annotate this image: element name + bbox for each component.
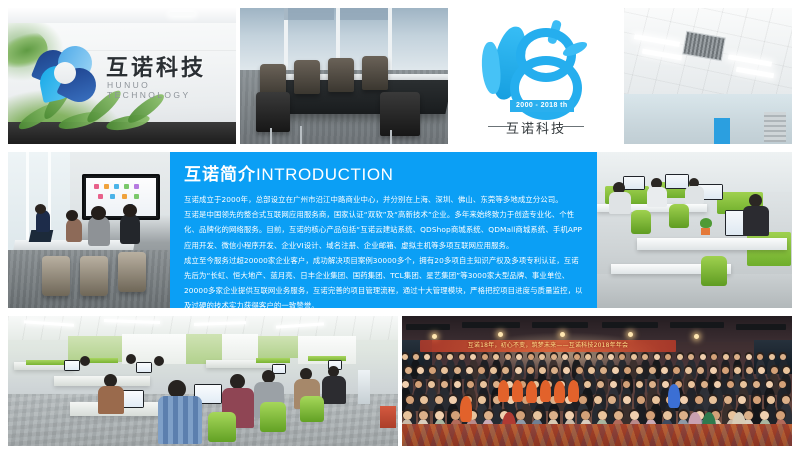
group-crowd	[402, 354, 792, 428]
ballroom-carpet	[402, 424, 792, 446]
top-photo-row: 互诺科技 HUNUO TECHNOLOGY	[8, 8, 792, 144]
logo-wordmark-cn: 互诺科技	[106, 50, 206, 82]
photo-boardroom	[240, 8, 448, 144]
logo-wordmark-en: HUNUO TECHNOLOGY	[107, 80, 236, 100]
red-bag	[380, 406, 396, 428]
intro-body: 互诺成立于2000年，总部设立在广州市沿江中路商业中心，并分别在上海、深圳、佛山…	[184, 192, 586, 314]
company-profile-collage: 互诺科技 HUNUO TECHNOLOGY	[0, 0, 800, 454]
intro-paragraph-1: 互诺成立于2000年，总部设立在广州市沿江中路商业中心，并分别在上海、深圳、佛山…	[184, 192, 586, 207]
photo-lobby-logo-wall: 互诺科技 HUNUO TECHNOLOGY	[8, 8, 236, 144]
photo-open-desks	[597, 152, 792, 308]
ceiling-strip	[8, 8, 236, 23]
anniversary-18-icon	[476, 16, 596, 108]
bottom-photo-row: 互诺18年，初心不变，筑梦未来——互诺科技2018年年会	[8, 316, 792, 446]
intro-heading-en: INTRODUCTION	[256, 165, 394, 184]
wall-display	[714, 118, 730, 144]
party-banner: 互诺18年，初心不变，筑梦未来——互诺科技2018年年会	[420, 340, 676, 352]
floor	[597, 274, 792, 308]
intro-paragraph-2: 互诺是中国领先的整合式互联网应用服务商，国家认证“双软”及“高新技术”企业。多年…	[184, 207, 586, 253]
anniversary-logo-card: 2000 - 2018 th 互诺科技	[452, 8, 620, 144]
anniversary-year-badge: 2000 - 2018 th	[510, 100, 574, 112]
intro-heading: 互诺简介INTRODUCTION	[184, 160, 394, 185]
party-banner-text: 互诺18年，初心不变，筑梦未来——互诺科技2018年年会	[420, 340, 676, 352]
photo-office-floor	[8, 316, 398, 446]
photo-annual-party-group: 互诺18年，初心不变，筑梦未来——互诺科技2018年年会	[402, 316, 792, 446]
introduction-panel: 互诺简介INTRODUCTION 互诺成立于2000年，总部设立在广州市沿江中路…	[170, 152, 597, 308]
water-cooler	[358, 370, 370, 404]
server-cabinet	[764, 112, 786, 142]
photo-office-ceiling	[624, 8, 792, 144]
intro-heading-cn: 互诺简介	[184, 165, 256, 185]
middle-row: 互诺简介INTRODUCTION 互诺成立于2000年，总部设立在广州市沿江中路…	[8, 152, 792, 308]
anniversary-company-name: 互诺科技	[452, 118, 620, 137]
intro-paragraph-3: 成立至今服务过超20000家企业客户，成功解决项目案例30000多个，拥有20多…	[184, 253, 586, 314]
hunuo-logo-icon	[36, 46, 96, 102]
photo-tv-meeting-room	[8, 152, 170, 308]
